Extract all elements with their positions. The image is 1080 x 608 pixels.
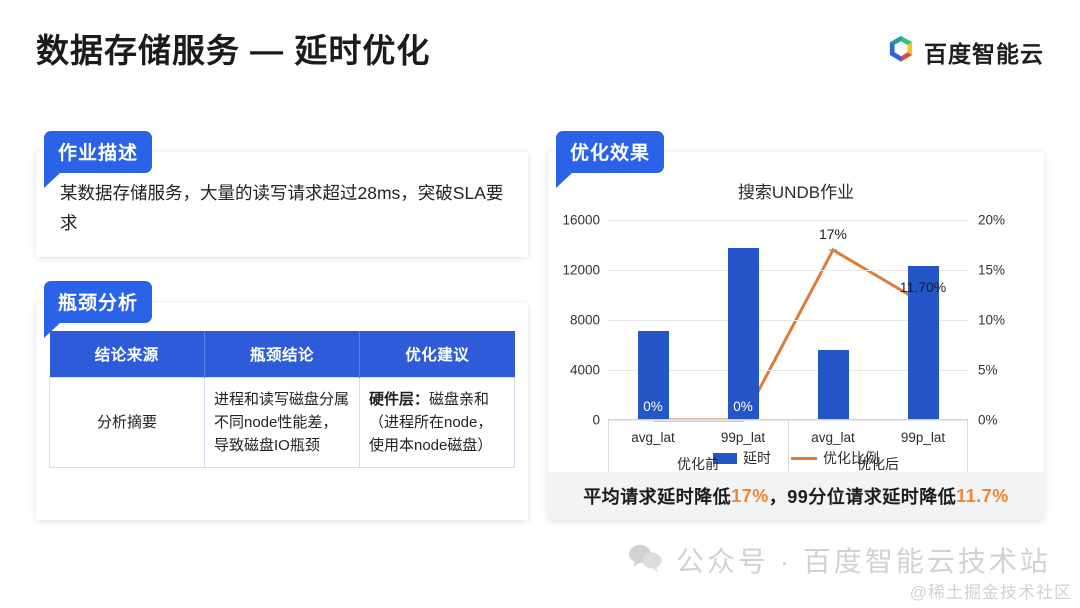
y-axis-tick-right: 20% [978, 213, 1005, 228]
x-axis-tick-label: 99p_lat [721, 430, 765, 445]
chart-title: 搜索UNDB作业 [548, 178, 1044, 203]
y-axis-tick-left: 0 [592, 413, 600, 428]
y-axis-tick-left: 4000 [570, 363, 600, 378]
baidu-cloud-hexagon-icon [887, 34, 915, 69]
cell-source: 分析摘要 [50, 378, 205, 468]
line-value-label: 17% [819, 226, 847, 242]
job-description-text: 某数据存储服务，大量的读写请求超过28ms，突破SLA要求 [60, 178, 508, 238]
y-axis-tick-right: 5% [978, 363, 998, 378]
x-axis-group-label: 优化前 [677, 454, 719, 474]
tab-optimization-effect: 优化效果 [556, 131, 664, 173]
column-header-source: 结论来源 [50, 331, 205, 378]
y-axis-tick-left: 16000 [562, 213, 600, 228]
watermark: 公众号 · 百度智能云技术站 [628, 540, 1051, 580]
x-axis-separator [608, 420, 609, 472]
optimization-chart-card: 搜索UNDB作业 04000800012000160000%5%10%15%20… [548, 152, 1044, 520]
column-header-conclusion: 瓶颈结论 [205, 331, 360, 378]
bar-value-label: 0% [733, 399, 753, 414]
suggestion-layer-label: 硬件层： [369, 391, 429, 408]
brand-name: 百度智能云 [924, 35, 1044, 69]
summary-banner: 平均请求延时降低17%，99分位请求延时降低11.7% [548, 472, 1044, 520]
summary-middle: ，99分位请求延时降低 [769, 483, 957, 509]
y-axis-tick-left: 12000 [562, 263, 600, 278]
y-axis-tick-right: 0% [978, 413, 998, 428]
x-axis-tick-label: avg_lat [631, 430, 675, 445]
wechat-icon [628, 543, 664, 578]
chart-bar [818, 350, 849, 420]
x-axis-separator [967, 420, 968, 472]
bottleneck-analysis-card: 结论来源 瓶颈结论 优化建议 分析摘要 进程和读写磁盘分属不同node性能差，导… [36, 303, 528, 520]
chart-bar: 0% [728, 248, 759, 421]
tab-bottleneck-analysis: 瓶颈分析 [44, 281, 152, 323]
summary-value-avg: 17% [731, 486, 769, 507]
page-title: 数据存储服务 — 延时优化 [36, 24, 430, 72]
watermark-subtext: @稀土掘金技术社区 [910, 578, 1072, 603]
chart-plot-area: 04000800012000160000%5%10%15%20%0%0%17%1… [608, 220, 968, 420]
summary-value-p99: 11.7% [956, 486, 1009, 507]
tab-job-description: 作业描述 [44, 131, 152, 173]
y-axis-tick-right: 10% [978, 313, 1005, 328]
watermark-text: 公众号 · 百度智能云技术站 [676, 540, 1051, 580]
table-row: 分析摘要 进程和读写磁盘分属不同node性能差，导致磁盘IO瓶颈 硬件层：磁盘亲… [50, 378, 515, 468]
x-axis-tick-label: 99p_lat [901, 430, 945, 445]
x-axis-tick-label: avg_lat [811, 430, 855, 445]
cell-suggestion: 硬件层：磁盘亲和（进程所在node，使用本node磁盘） [360, 378, 515, 468]
x-axis-group-label: 优化后 [857, 454, 899, 474]
x-axis-separator [788, 420, 789, 472]
line-path [653, 250, 923, 420]
y-axis-tick-left: 8000 [570, 313, 600, 328]
brand-logo: 百度智能云 [887, 34, 1044, 69]
bottleneck-table: 结论来源 瓶颈结论 优化建议 分析摘要 进程和读写磁盘分属不同node性能差，导… [49, 331, 515, 468]
chart-bar: 0% [638, 331, 669, 420]
chart-gridline [608, 220, 968, 221]
slide-root: 数据存储服务 — 延时优化 百度智能云 作业描述 某数据存储服务，大量的读写请求… [0, 0, 1080, 608]
column-header-suggestion: 优化建议 [360, 331, 515, 378]
y-axis-tick-right: 15% [978, 263, 1005, 278]
legend-item-bar: 延时 [713, 448, 771, 468]
legend-line-swatch-icon [791, 457, 817, 460]
table-header-row: 结论来源 瓶颈结论 优化建议 [50, 331, 515, 378]
summary-prefix: 平均请求延时降低 [583, 483, 731, 509]
cell-conclusion: 进程和读写磁盘分属不同node性能差，导致磁盘IO瓶颈 [205, 378, 360, 468]
legend-label-latency: 延时 [743, 448, 771, 468]
chart-legend: 延时 优化比例 [548, 448, 1044, 468]
bar-value-label: 0% [643, 399, 663, 414]
line-value-label: 11.70% [900, 279, 946, 295]
